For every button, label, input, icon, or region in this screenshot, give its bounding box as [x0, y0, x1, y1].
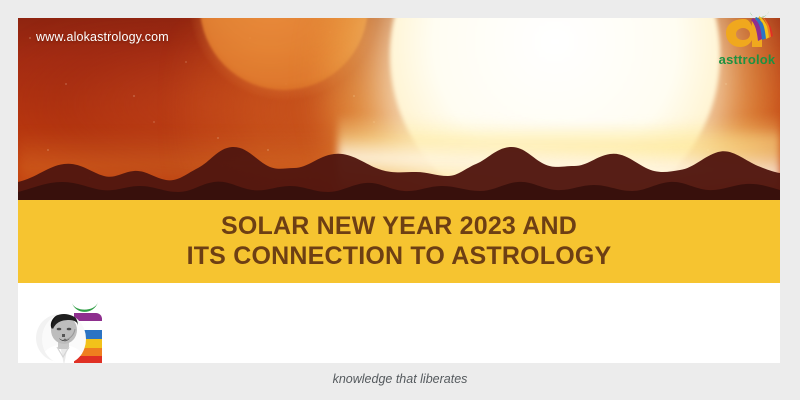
- page-title: SOLAR NEW YEAR 2023 AND ITS CONNECTION T…: [147, 212, 652, 271]
- hero-image: www.alokastrology.com: [18, 18, 780, 200]
- brand-name: asttrolok: [708, 52, 786, 67]
- author-avatar[interactable]: [34, 293, 118, 363]
- title-band: SOLAR NEW YEAR 2023 AND ITS CONNECTION T…: [18, 200, 780, 283]
- crescent-icon: [72, 302, 98, 312]
- hills-silhouette: [18, 138, 780, 200]
- asttrolok-mark-icon: [720, 8, 774, 52]
- site-url-watermark: www.alokastrology.com: [36, 30, 169, 44]
- card-body: [18, 283, 780, 363]
- brand-logo[interactable]: asttrolok: [708, 8, 786, 67]
- article-card: www.alokastrology.com SOLAR NEW YEAR 202…: [18, 18, 780, 363]
- site-tagline: knowledge that liberates: [0, 372, 800, 386]
